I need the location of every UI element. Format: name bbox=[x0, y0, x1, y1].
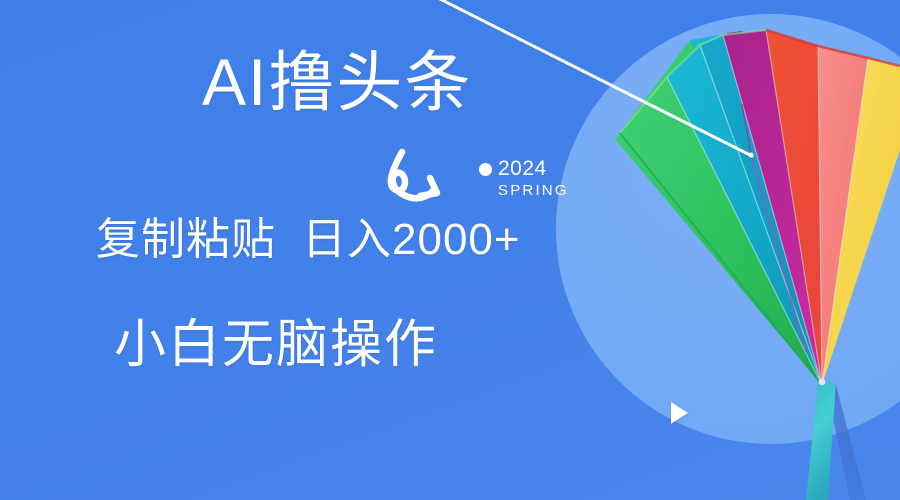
kite-spar-5 bbox=[818, 46, 822, 385]
promo-banner: AI撸头条 复制粘贴日入2000+ 小白无脑操作 2024 SPRING bbox=[0, 0, 900, 500]
kite-sector-green bbox=[620, 77, 822, 385]
kite-bridle-upper bbox=[742, 104, 751, 155]
play-triangle-cursor-icon bbox=[668, 400, 692, 426]
headline-primary: AI撸头条 bbox=[202, 42, 472, 122]
filled-circle-icon bbox=[479, 163, 492, 176]
kite-rim-outer-left bbox=[620, 133, 822, 385]
kite-sector-magenta bbox=[723, 30, 822, 385]
kite-sector-yellow bbox=[822, 58, 900, 385]
kite-sector-red bbox=[766, 30, 822, 385]
kite-tail bbox=[806, 382, 836, 500]
kite-panel-teal-main bbox=[700, 31, 822, 385]
curly-arrow-doodle-icon bbox=[372, 146, 472, 226]
kite-panel-magenta-main bbox=[727, 31, 822, 385]
kite-bridle-lower bbox=[751, 155, 806, 352]
kite-spar-6 bbox=[822, 58, 868, 385]
kite-spar-1 bbox=[667, 77, 822, 385]
season-badge-year: 2024 bbox=[498, 158, 547, 180]
kite-spar-2 bbox=[700, 45, 822, 385]
kite-sector-salmon bbox=[818, 46, 868, 385]
kite-spar-4 bbox=[766, 30, 822, 385]
kite-canopy bbox=[620, 31, 822, 385]
season-badge: 2024 SPRING bbox=[479, 158, 589, 199]
kite-spar-3 bbox=[723, 35, 822, 385]
headline-tertiary: 小白无脑操作 bbox=[114, 312, 438, 378]
headline-secondary-part-a: 复制粘贴 bbox=[96, 215, 276, 264]
kite-panel-teal bbox=[690, 31, 822, 385]
kite-sector-cyan bbox=[700, 35, 822, 385]
kite-rim-right bbox=[766, 30, 900, 66]
kite-spine-cap bbox=[819, 379, 826, 386]
kite-panel-green bbox=[615, 40, 822, 385]
season-badge-season: SPRING bbox=[498, 182, 589, 199]
kite-tail-shadow bbox=[826, 385, 866, 500]
kite-rim-left bbox=[620, 30, 766, 133]
kite-bridle-knot bbox=[748, 152, 753, 157]
kite-panel-green-main bbox=[620, 41, 822, 385]
kite-sector-teal bbox=[667, 45, 822, 385]
season-badge-top-row: 2024 bbox=[479, 158, 589, 180]
headline-block: AI撸头条 复制粘贴日入2000+ 小白无脑操作 2024 SPRING bbox=[0, 0, 620, 500]
